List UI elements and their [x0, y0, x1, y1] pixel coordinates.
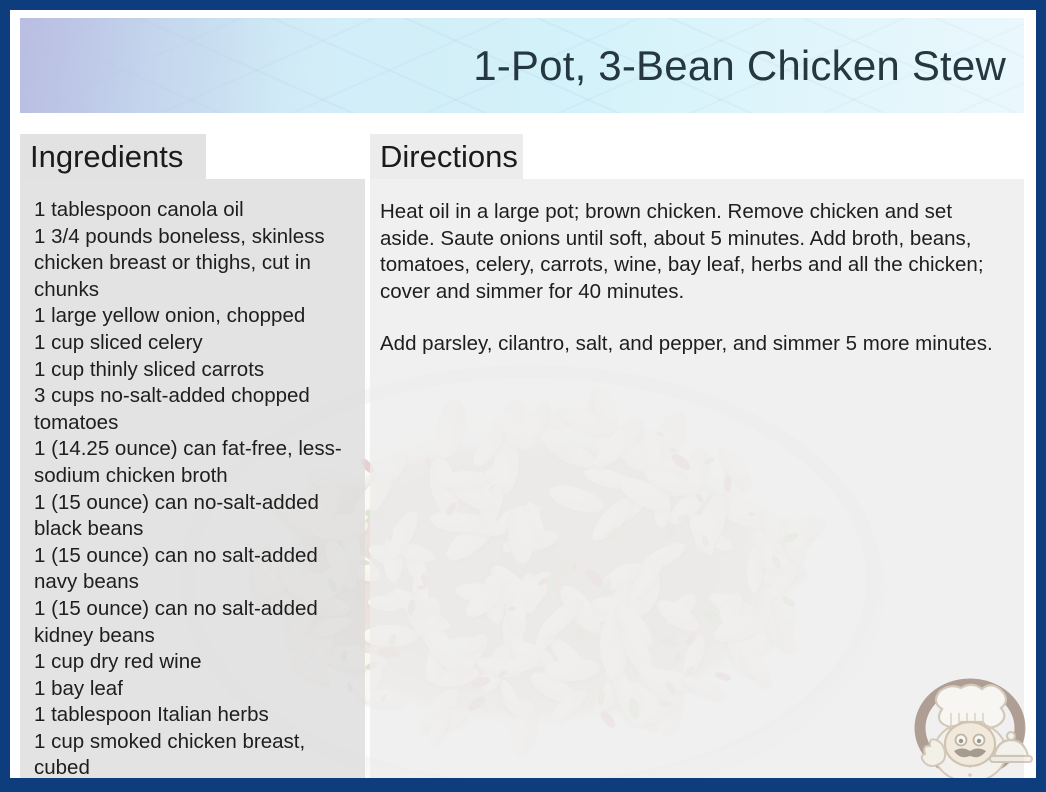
- ingredient-item: 1 (15 ounce) can no-salt-added black bea…: [34, 490, 351, 543]
- ingredients-panel: 1 tablespoon canola oil1 3/4 pounds bone…: [20, 179, 365, 778]
- ingredient-item: 1 large yellow onion, chopped: [34, 303, 351, 330]
- directions-body: Heat oil in a large pot; brown chicken. …: [380, 199, 1008, 358]
- ingredient-item: 1 cup dry red wine: [34, 649, 351, 676]
- ingredient-item: 1 (14.25 ounce) can fat-free, less-sodiu…: [34, 436, 351, 489]
- ingredients-heading-tab: Ingredients: [20, 134, 206, 179]
- directions-heading-tab: Directions: [370, 134, 523, 179]
- ingredient-item: 3 cups no-salt-added chopped tomatoes: [34, 383, 351, 436]
- ingredients-list: 1 tablespoon canola oil1 3/4 pounds bone…: [34, 197, 351, 778]
- directions-heading: Directions: [370, 139, 518, 175]
- direction-paragraph: Add parsley, cilantro, salt, and pepper,…: [380, 331, 1008, 358]
- chef-mascot-logo: [906, 656, 1034, 778]
- ingredient-item: 1 3/4 pounds boneless, skinless chicken …: [34, 224, 351, 304]
- ingredient-item: 1 bay leaf: [34, 676, 351, 703]
- ingredient-item: 1 cup smoked chicken breast, cubed: [34, 729, 351, 778]
- page-title: 1-Pot, 3-Bean Chicken Stew: [473, 42, 1024, 90]
- title-banner: 1-Pot, 3-Bean Chicken Stew: [20, 18, 1024, 113]
- ingredients-heading: Ingredients: [20, 139, 183, 175]
- ingredient-item: 1 (15 ounce) can no salt-added kidney be…: [34, 596, 351, 649]
- ingredient-item: 1 cup sliced celery: [34, 330, 351, 357]
- ingredient-item: 1 tablespoon Italian herbs: [34, 702, 351, 729]
- ingredient-item: 1 (15 ounce) can no salt-added navy bean…: [34, 543, 351, 596]
- ingredient-item: 1 cup thinly sliced carrots: [34, 357, 351, 384]
- card-sheet: 1-Pot, 3-Bean Chicken Stew Ingredients 1…: [10, 10, 1036, 778]
- direction-paragraph: Heat oil in a large pot; brown chicken. …: [380, 199, 1008, 305]
- ingredient-item: 1 tablespoon canola oil: [34, 197, 351, 224]
- recipe-card: 1-Pot, 3-Bean Chicken Stew Ingredients 1…: [0, 0, 1046, 792]
- chef-mascot-icon: [906, 656, 1034, 778]
